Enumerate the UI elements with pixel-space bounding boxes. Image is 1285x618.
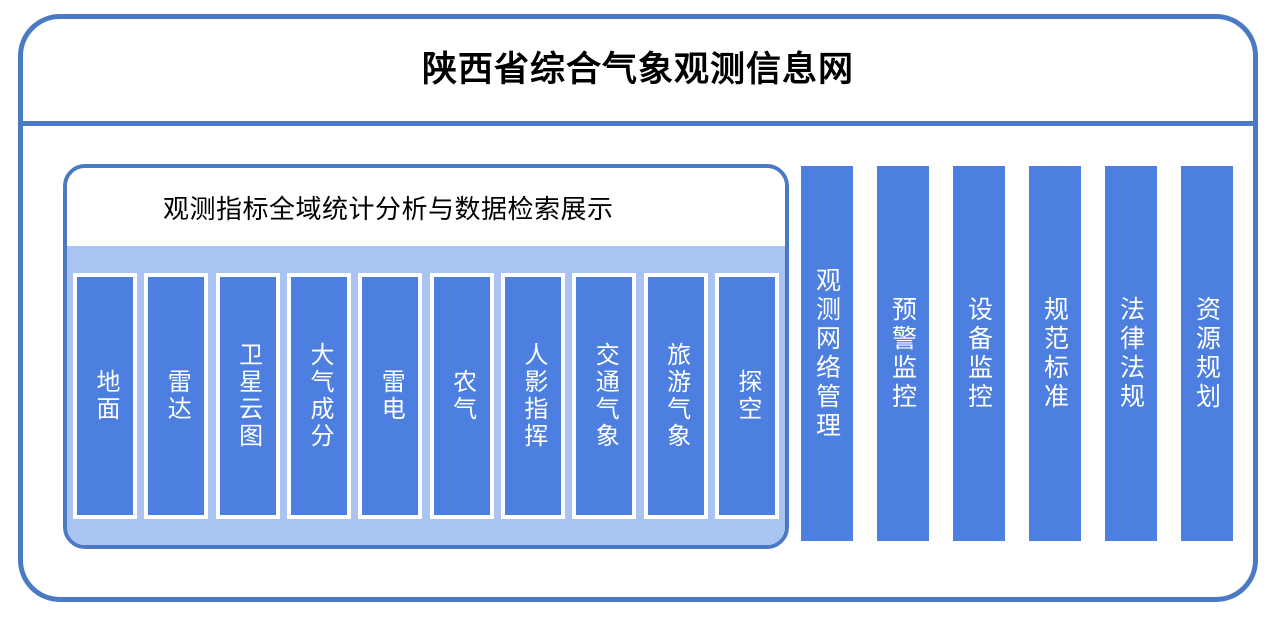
observation-card-diamian[interactable]: 地面 — [73, 273, 137, 519]
observation-card-leidian[interactable]: 雷电 — [358, 273, 422, 519]
diagram-root: 陕西省综合气象观测信息网 观测指标全域统计分析与数据检索展示 地面 雷达 卫星云… — [0, 0, 1285, 618]
right-module-list: 观测网络管理 预警监控 设备监控 规范标准 法律法规 资源规划 — [801, 166, 1233, 541]
module-card-label: 预警监控 — [890, 296, 917, 412]
observation-card-renyingzhihui[interactable]: 人影指挥 — [501, 273, 565, 519]
observation-index-panel-header: 观测指标全域统计分析与数据检索展示 — [67, 168, 785, 246]
observation-card-weixingyuntu[interactable]: 卫星云图 — [216, 273, 280, 519]
module-card-shebeijiankong[interactable]: 设备监控 — [953, 166, 1005, 541]
observation-card-jiaotongqixiang[interactable]: 交通气象 — [572, 273, 636, 519]
observation-card-tankong[interactable]: 探空 — [715, 273, 779, 519]
observation-card-label: 交通气象 — [591, 342, 617, 450]
module-card-guifanbiaozhun[interactable]: 规范标准 — [1029, 166, 1081, 541]
module-card-label: 设备监控 — [966, 296, 993, 412]
module-card-label: 规范标准 — [1042, 296, 1069, 412]
observation-card-label: 农气 — [449, 369, 475, 423]
outer-frame: 陕西省综合气象观测信息网 观测指标全域统计分析与数据检索展示 地面 雷达 卫星云… — [18, 14, 1258, 602]
module-card-falvfagui[interactable]: 法律法规 — [1105, 166, 1157, 541]
observation-card-daqichengfen[interactable]: 大气成分 — [287, 273, 351, 519]
title-bar: 陕西省综合气象观测信息网 — [23, 19, 1253, 126]
observation-card-label: 大气成分 — [306, 342, 332, 450]
observation-card-label: 探空 — [734, 369, 760, 423]
observation-card-label: 卫星云图 — [235, 342, 261, 450]
observation-index-card-list: 地面 雷达 卫星云图 大气成分 雷电 农气 人影指挥 — [67, 246, 785, 545]
module-card-label: 法律法规 — [1118, 296, 1145, 412]
module-card-ziyuanguihua[interactable]: 资源规划 — [1181, 166, 1233, 541]
observation-index-panel-title: 观测指标全域统计分析与数据检索展示 — [163, 189, 614, 226]
observation-card-nongqi[interactable]: 农气 — [430, 273, 494, 519]
module-card-guancewangluoguanli[interactable]: 观测网络管理 — [801, 166, 853, 541]
observation-card-label: 雷电 — [377, 369, 403, 423]
page-title: 陕西省综合气象观测信息网 — [422, 53, 854, 88]
observation-card-leida[interactable]: 雷达 — [144, 273, 208, 519]
observation-card-label: 雷达 — [163, 369, 189, 423]
observation-index-panel: 观测指标全域统计分析与数据检索展示 地面 雷达 卫星云图 大气成分 雷电 — [63, 164, 789, 549]
observation-card-label: 人影指挥 — [520, 342, 546, 450]
module-card-yujingjiankong[interactable]: 预警监控 — [877, 166, 929, 541]
observation-card-label: 地面 — [92, 369, 118, 423]
observation-card-label: 旅游气象 — [663, 342, 689, 450]
module-card-label: 资源规划 — [1194, 296, 1221, 412]
module-card-label: 观测网络管理 — [814, 267, 841, 441]
observation-card-lvyouqixiang[interactable]: 旅游气象 — [644, 273, 708, 519]
